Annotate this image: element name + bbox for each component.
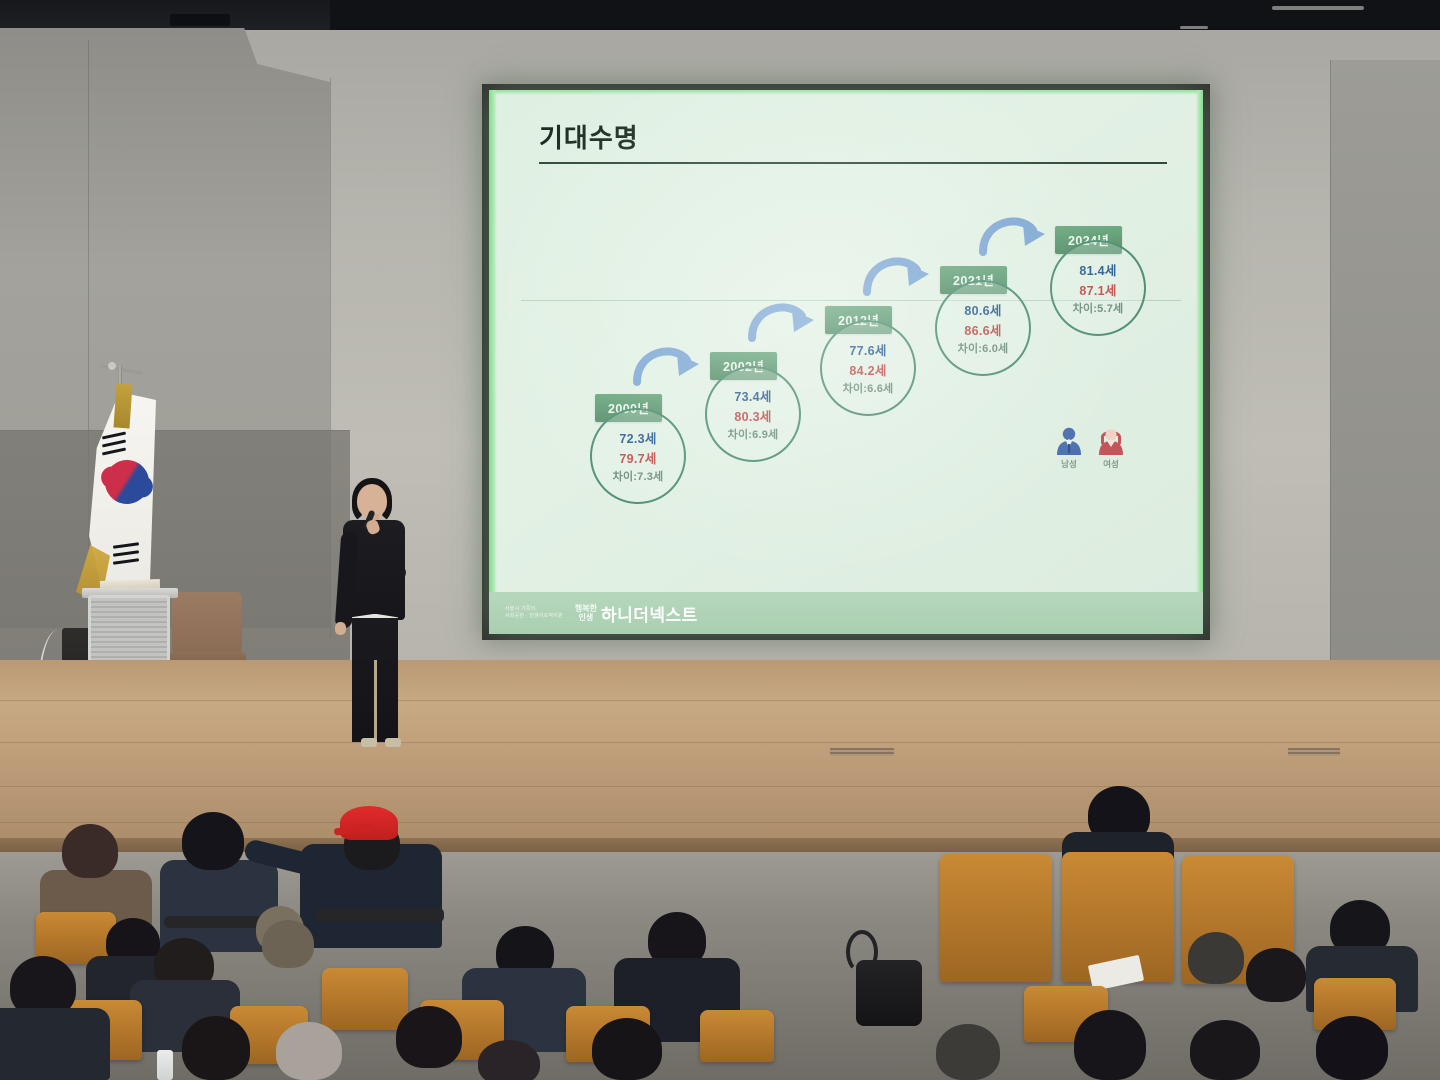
- diff-value-2000: 차이:7.3세: [613, 468, 664, 484]
- male-value-2002: 73.4세: [734, 386, 771, 405]
- presenter-shoe-right: [385, 738, 401, 747]
- water-bottle: [157, 1050, 173, 1080]
- male-value-2021: 80.6세: [964, 300, 1001, 319]
- female-value-2002: 80.3세: [734, 406, 771, 425]
- presenter-shoe-left: [361, 738, 377, 747]
- flag-trigram: [102, 432, 126, 440]
- flag-trigram: [113, 558, 139, 565]
- female-value-2012: 84.2세: [849, 360, 886, 379]
- audience-person-head: [182, 812, 244, 870]
- audience-person-head: [1246, 948, 1306, 1002]
- audience-person-head: [478, 1040, 540, 1080]
- audience-person-head: [276, 1022, 342, 1080]
- audience-person-head: [262, 920, 314, 968]
- lecture-hall-photo: 기대수명 2000년 72.3세 79.7세 차이:7.3세 2002년: [0, 0, 1440, 1080]
- audience-person-head: [936, 1024, 1000, 1080]
- floor-plank: [0, 700, 1440, 701]
- legend-item-female: 여성: [1097, 426, 1125, 470]
- diff-value-2012: 차이:6.6세: [843, 380, 894, 396]
- ceiling-light: [1180, 26, 1208, 29]
- audience-person-body: [0, 1008, 110, 1080]
- flag-trigram: [113, 542, 139, 549]
- life-expectancy-bubble-2024: 81.4세 87.1세 차이:5.7세: [1050, 240, 1146, 336]
- presentation-slide: 기대수명 2000년 72.3세 79.7세 차이:7.3세 2002년: [489, 90, 1203, 634]
- life-expectancy-bubble-2002: 73.4세 80.3세 차이:6.9세: [705, 366, 801, 462]
- arrow-2021-to-2024-icon: [975, 202, 1051, 258]
- audience-person-head: [62, 824, 118, 878]
- diff-value-2002: 차이:6.9세: [728, 426, 779, 442]
- floor-plank: [0, 786, 1440, 787]
- arrow-2012-to-2021-icon: [859, 242, 935, 298]
- audience-person-head: [1190, 1020, 1260, 1080]
- slide-edge-left: [489, 90, 497, 634]
- title-underline: [539, 162, 1167, 164]
- presenter-lower-hand: [335, 622, 346, 635]
- flag-trigram: [113, 550, 139, 557]
- flagpole-finial: [108, 362, 116, 370]
- footer-logo-text: 하니더넥스트: [601, 601, 698, 626]
- flag-trigram: [102, 440, 126, 448]
- female-value-2024: 87.1세: [1079, 280, 1116, 299]
- backpack: [856, 960, 922, 1026]
- legend-item-male: 남성: [1055, 426, 1083, 470]
- legend-label-male: 남성: [1061, 458, 1077, 470]
- slide-edge-top: [489, 90, 1203, 95]
- auditorium-seat: [322, 968, 408, 1030]
- life-expectancy-bubble-2000: 72.3세 79.7세 차이:7.3세: [590, 408, 686, 504]
- wall-seam: [1330, 60, 1331, 660]
- diff-value-2021: 차이:6.0세: [958, 340, 1009, 356]
- presenter-leg-gap: [374, 660, 377, 742]
- floor-plank: [0, 742, 1440, 743]
- female-value-2000: 79.7세: [619, 448, 656, 467]
- audience-person-head: [592, 1018, 662, 1080]
- gender-legend: 남성 여성: [1055, 426, 1125, 470]
- footer-micro-line1: 서울시 가족의: [505, 606, 563, 613]
- floor-vent: [1288, 748, 1340, 756]
- audience-person-head: [1074, 1010, 1146, 1080]
- audience-person-head: [182, 1016, 250, 1080]
- audience-person-head: [396, 1006, 462, 1068]
- flag-hanging-tag: [113, 383, 132, 428]
- chair-backrest: [172, 592, 242, 654]
- male-person-icon: [1055, 426, 1083, 456]
- wall-right-section: [1330, 60, 1440, 660]
- arrow-2000-to-2002-icon: [629, 332, 705, 388]
- seat-headrest: [316, 908, 444, 922]
- floor-vent: [830, 748, 894, 756]
- audience-person-head: [1316, 1016, 1388, 1080]
- flag-trigram: [102, 448, 126, 456]
- slide-footer: 서울시 가족의 사회공헌 · 인생이모작지원 행복한 인생 하니더넥스트: [489, 592, 1203, 634]
- legend-label-female: 여성: [1103, 458, 1119, 470]
- slide-title: 기대수명: [539, 118, 639, 155]
- female-person-icon: [1097, 426, 1125, 456]
- footer-micro-text: 서울시 가족의 사회공헌 · 인생이모작지원: [505, 606, 563, 620]
- arrow-2002-to-2012-icon: [744, 288, 820, 344]
- male-value-2012: 77.6세: [849, 340, 886, 359]
- female-value-2021: 86.6세: [964, 320, 1001, 339]
- diff-value-2024: 차이:5.7세: [1073, 300, 1124, 316]
- slide-edge-right: [1196, 90, 1203, 634]
- auditorium-seat: [700, 1010, 774, 1062]
- life-expectancy-bubble-2012: 77.6세 84.2세 차이:6.6세: [820, 320, 916, 416]
- footer-brand-mark: 행복한 인생: [575, 604, 597, 622]
- ceiling-fixture: [170, 14, 230, 26]
- male-value-2000: 72.3세: [619, 428, 656, 447]
- ceiling-light: [1272, 6, 1364, 10]
- male-value-2024: 81.4세: [1079, 260, 1116, 279]
- auditorium-seat: [940, 854, 1052, 982]
- footer-micro-line2: 사회공헌 · 인생이모작지원: [505, 613, 563, 620]
- life-expectancy-bubble-2021: 80.6세 86.6세 차이:6.0세: [935, 280, 1031, 376]
- audience-person-head: [1188, 932, 1244, 984]
